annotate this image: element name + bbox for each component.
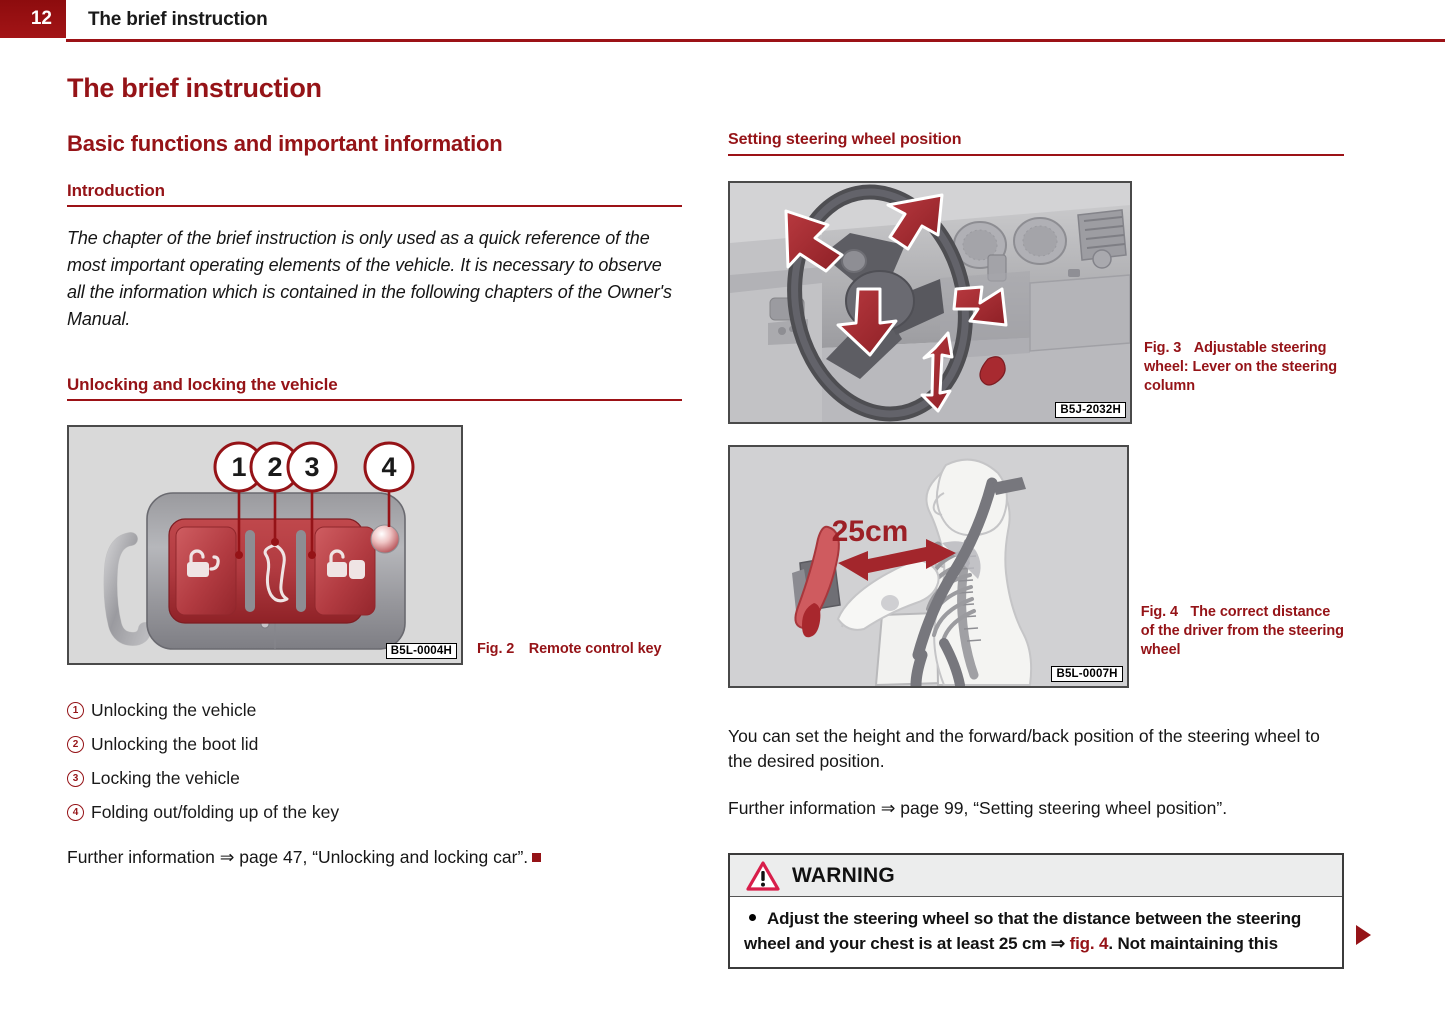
legend-label-4: Folding out/folding up of the key [91,801,339,823]
warning-text-part2: . Not maintaining this [1108,934,1278,953]
chapter-title: The brief instruction [67,73,322,104]
further-information-left-text: Further information ⇒ page 47, “Unlockin… [67,847,528,867]
list-item: 3 Locking the vehicle [67,767,682,789]
driver-distance-skeleton-illustration: 25cm [730,447,1129,686]
left-column: Basic functions and important informatio… [67,131,682,870]
introduction-paragraph: The chapter of the brief instruction is … [67,225,682,333]
legend-label-3: Locking the vehicle [91,767,240,789]
adjustable-steering-wheel-illustration [730,183,1130,422]
running-header-title: The brief instruction [88,9,267,31]
continuation-triangle-icon [1356,925,1371,945]
warning-header: WARNING [730,855,1342,897]
list-item: 4 Folding out/folding up of the key [67,801,682,823]
legend-label-2: Unlocking the boot lid [91,733,258,755]
section-heading-basic-functions: Basic functions and important informatio… [67,131,682,157]
subheading-unlocking-locking: Unlocking and locking the vehicle [67,375,682,401]
subheading-introduction: Introduction [67,181,682,207]
page-number: 12 [0,0,66,38]
figure-caption-number-fig2: Fig. 2 [477,641,514,657]
list-item: 2 Unlocking the boot lid [67,733,682,755]
svg-text:3: 3 [304,452,319,482]
steering-paragraph-1: You can set the height and the forward/b… [728,724,1344,774]
warning-text: Adjust the steering wheel so that the di… [730,897,1342,967]
legend-number-4: 4 [67,804,84,821]
section-heading-steering-wheel: Setting steering wheel position [728,131,1344,156]
page-header: 12 The brief instruction [0,0,1445,42]
svg-text:2: 2 [267,452,282,482]
figure-caption-number-fig4: Fig. 4 [1141,604,1178,620]
legend-label-1: Unlocking the vehicle [91,699,256,721]
remote-control-key-illustration: 1 2 3 [69,427,461,663]
key-legend-list: 1 Unlocking the vehicle 2 Unlocking the … [67,699,682,823]
figure-code-fig3: B5J-2032H [1055,402,1126,418]
further-information-left: Further information ⇒ page 47, “Unlockin… [67,845,682,870]
warning-figure-reference[interactable]: fig. 4 [1070,934,1109,953]
svg-text:1: 1 [231,452,246,482]
legend-number-1: 1 [67,702,84,719]
page-body: The brief instruction Basic functions an… [0,42,1445,1019]
figure-caption-text-fig2: Remote control key [519,641,662,657]
steering-paragraph-2: Further information ⇒ page 99, “Setting … [728,796,1344,821]
figure-adjustable-steering-wheel: B5J-2032H [728,181,1132,424]
warning-box: WARNING Adjust the steering wheel so tha… [728,853,1344,969]
warning-triangle-icon [746,861,780,891]
end-of-section-mark [532,853,541,862]
figure-remote-control-key: 1 2 3 [67,425,463,665]
distance-label: 25cm [832,515,909,548]
legend-number-2: 2 [67,736,84,753]
list-item: 1 Unlocking the vehicle [67,699,682,721]
warning-bullet [749,914,756,921]
right-column: Setting steering wheel position [728,131,1344,969]
figure-driver-distance: 25cm B5L-0007H [728,445,1129,688]
figure-caption-number-fig3: Fig. 3 [1144,340,1181,356]
figure-code-fig2: B5L-0004H [386,643,457,659]
figure-code-fig4: B5L-0007H [1051,666,1122,682]
warning-label: WARNING [792,864,895,888]
svg-text:4: 4 [381,452,396,482]
legend-number-3: 3 [67,770,84,787]
